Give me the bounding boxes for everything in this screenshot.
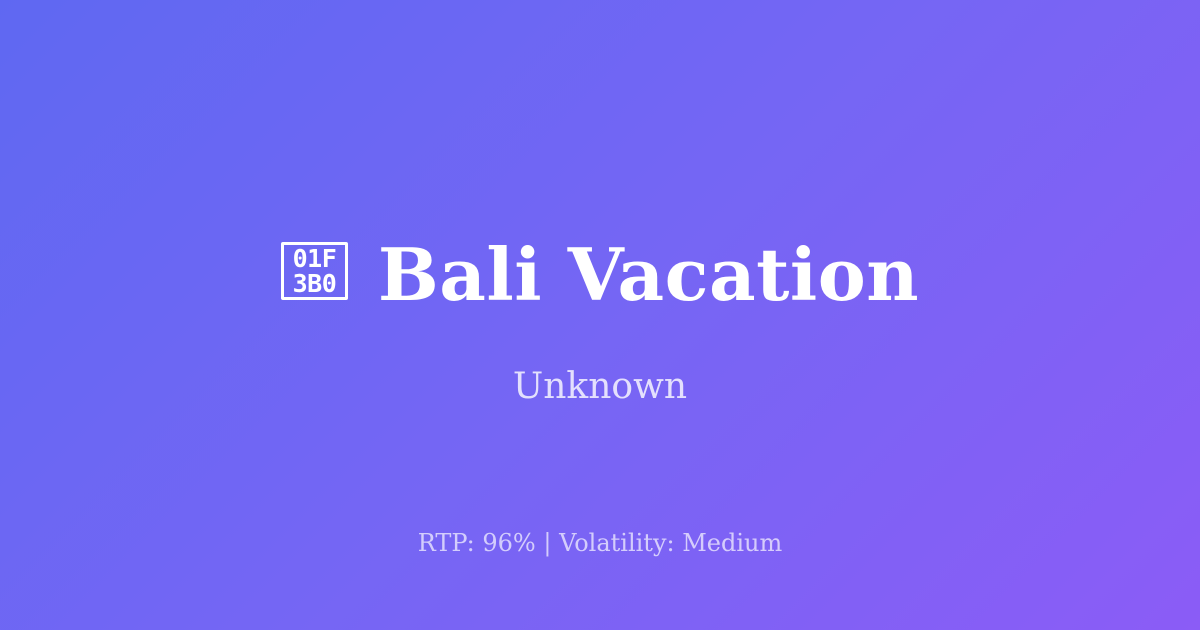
slot-machine-icon: 01F 3B0 — [281, 242, 348, 300]
provider-subtitle: Unknown — [0, 365, 1200, 409]
missing-glyph-codepoint-bottom: 3B0 — [293, 271, 337, 296]
missing-glyph-codepoint: 01F 3B0 — [287, 247, 342, 295]
page-title: Bali Vacation — [378, 232, 919, 318]
title-block: 01F 3B0 Bali Vacation — [0, 232, 1200, 318]
game-banner-card: 01F 3B0 Bali Vacation Unknown RTP: 96% |… — [0, 0, 1200, 630]
game-stats-line: RTP: 96% | Volatility: Medium — [0, 528, 1200, 558]
missing-glyph-codepoint-top: 01F — [293, 246, 337, 271]
